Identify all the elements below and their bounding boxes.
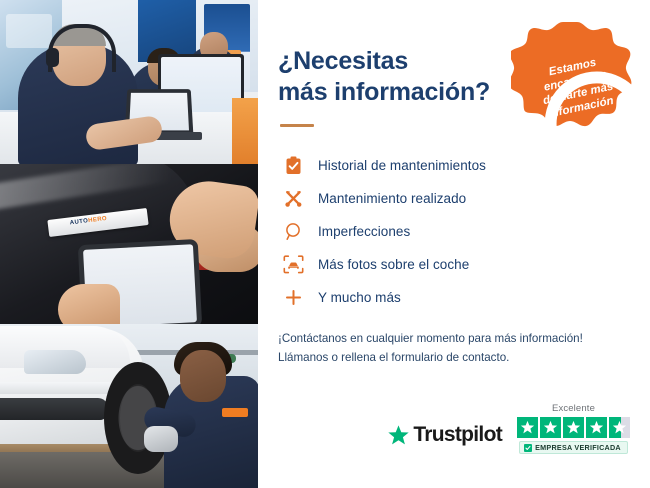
content-panel: ¿Necesitas más información? Historial de…	[258, 0, 650, 488]
car-focus-frame-icon	[278, 255, 308, 274]
trustpilot-star-icon	[387, 424, 410, 447]
ruler-brand-text-right: HERO	[88, 216, 108, 224]
crossed-tools-icon	[278, 189, 308, 208]
trustpilot-rating-label: Excelente	[552, 403, 595, 414]
trustpilot-logo[interactable]: Trustpilot	[387, 423, 502, 454]
trustpilot-rating[interactable]: Trustpilot Excelente	[387, 403, 630, 454]
trustpilot-wordmark: Trustpilot	[413, 423, 502, 447]
verified-check-icon	[524, 444, 532, 452]
plus-icon	[278, 288, 308, 307]
happy-to-help-badge: Estamos encantados de darte más informac…	[511, 19, 643, 151]
information-promo-card: AUTOHERO	[0, 0, 650, 488]
star-half-filled	[609, 417, 630, 438]
magnifier-icon	[278, 222, 308, 241]
title-divider	[280, 124, 314, 127]
photo-technician-inspecting-white-car-wheel	[0, 324, 258, 488]
photo-vehicle-inspection-ruler-and-tablet: AUTOHERO	[0, 164, 258, 324]
feature-label: Más fotos sobre el coche	[308, 257, 469, 272]
page-title: ¿Necesitas más información?	[278, 46, 493, 107]
star-filled	[540, 417, 561, 438]
verified-company-badge: EMPRESA VERIFICADA	[519, 441, 628, 454]
feature-label: Historial de mantenimientos	[308, 158, 486, 173]
photo-call-center-agents-with-headsets	[0, 0, 258, 164]
photo-column: AUTOHERO	[0, 0, 258, 488]
contact-line-1: ¡Contáctanos en cualquier momento para m…	[278, 330, 628, 349]
page-title-line-1: ¿Necesitas	[278, 47, 408, 75]
ruler-brand-text-left: AUTO	[70, 218, 89, 226]
feature-label: Y mucho más	[308, 290, 401, 305]
feature-item-much-more: Y mucho más	[278, 281, 628, 313]
clipboard-check-icon	[278, 156, 308, 175]
contact-text: ¡Contáctanos en cualquier momento para m…	[278, 330, 628, 368]
verified-company-label: EMPRESA VERIFICADA	[535, 443, 621, 452]
contact-line-2: Llámanos o rellena el formulario de cont…	[278, 349, 628, 368]
star-filled	[563, 417, 584, 438]
feature-item-more-car-photos: Más fotos sobre el coche	[278, 248, 628, 280]
star-filled	[517, 417, 538, 438]
feature-label: Mantenimiento realizado	[308, 191, 466, 206]
trustpilot-star-rating	[517, 417, 630, 438]
feature-item-imperfections: Imperfecciones	[278, 215, 628, 247]
page-title-line-2: más información?	[278, 78, 490, 106]
star-filled	[586, 417, 607, 438]
feature-label: Imperfecciones	[308, 224, 410, 239]
trustpilot-score-block: Excelente	[517, 403, 630, 454]
